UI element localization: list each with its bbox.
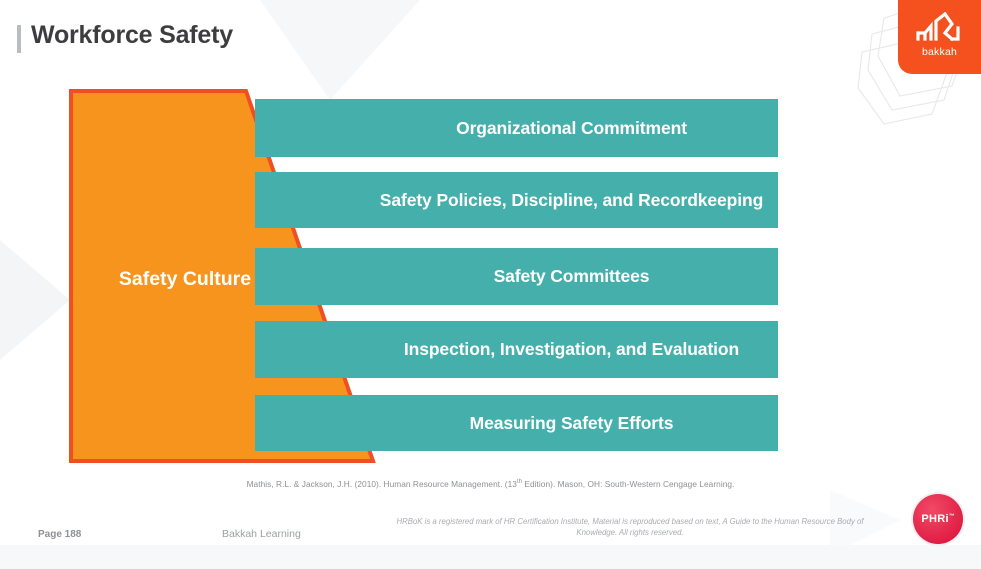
phri-trademark: ™ bbox=[949, 513, 955, 519]
bar-organizational-commitment[interactable]: Organizational Commitment bbox=[255, 99, 778, 157]
citation-suffix: Edition). Mason, OH: South-Western Cenga… bbox=[522, 479, 734, 489]
bar-label: Organizational Commitment bbox=[346, 118, 687, 139]
bar-measuring-safety-efforts[interactable]: Measuring Safety Efforts bbox=[255, 395, 778, 451]
bar-safety-committees[interactable]: Safety Committees bbox=[255, 248, 778, 305]
bar-label: Measuring Safety Efforts bbox=[360, 413, 674, 434]
citation-prefix: Mathis, R.L. & Jackson, J.H. (2010). Hum… bbox=[247, 479, 517, 489]
bar-label: Inspection, Investigation, and Evaluatio… bbox=[294, 339, 739, 360]
page-title: Workforce Safety bbox=[31, 21, 233, 50]
logo-wordmark: bakkah bbox=[898, 46, 981, 58]
slide-canvas: Workforce Safety bakkah Safety Culture O… bbox=[0, 0, 981, 569]
footer-disclaimer: HRBoK is a registered mark of HR Certifi… bbox=[380, 516, 880, 539]
bar-label: Safety Committees bbox=[384, 266, 650, 287]
footer-disclaimer-line1: HRBoK is a registered mark of HR Certifi… bbox=[396, 517, 799, 526]
citation-text: Mathis, R.L. & Jackson, J.H. (2010). Hum… bbox=[0, 479, 981, 489]
title-accent-bar bbox=[17, 25, 21, 53]
phri-label: PHRi bbox=[921, 513, 948, 525]
bar-safety-policies[interactable]: Safety Policies, Discipline, and Recordk… bbox=[255, 172, 778, 228]
phri-badge-text: PHRi™ bbox=[921, 513, 954, 525]
bakkah-mark-icon bbox=[914, 12, 966, 44]
footer-page-number: Page 188 bbox=[38, 529, 81, 540]
bakkah-logo: bakkah bbox=[898, 0, 981, 74]
phri-badge: PHRi™ bbox=[913, 494, 963, 544]
footer-strip bbox=[0, 545, 981, 569]
footer-organization: Bakkah Learning bbox=[222, 528, 301, 540]
bar-label: Safety Policies, Discipline, and Recordk… bbox=[270, 190, 763, 211]
bar-inspection-investigation[interactable]: Inspection, Investigation, and Evaluatio… bbox=[255, 321, 778, 378]
